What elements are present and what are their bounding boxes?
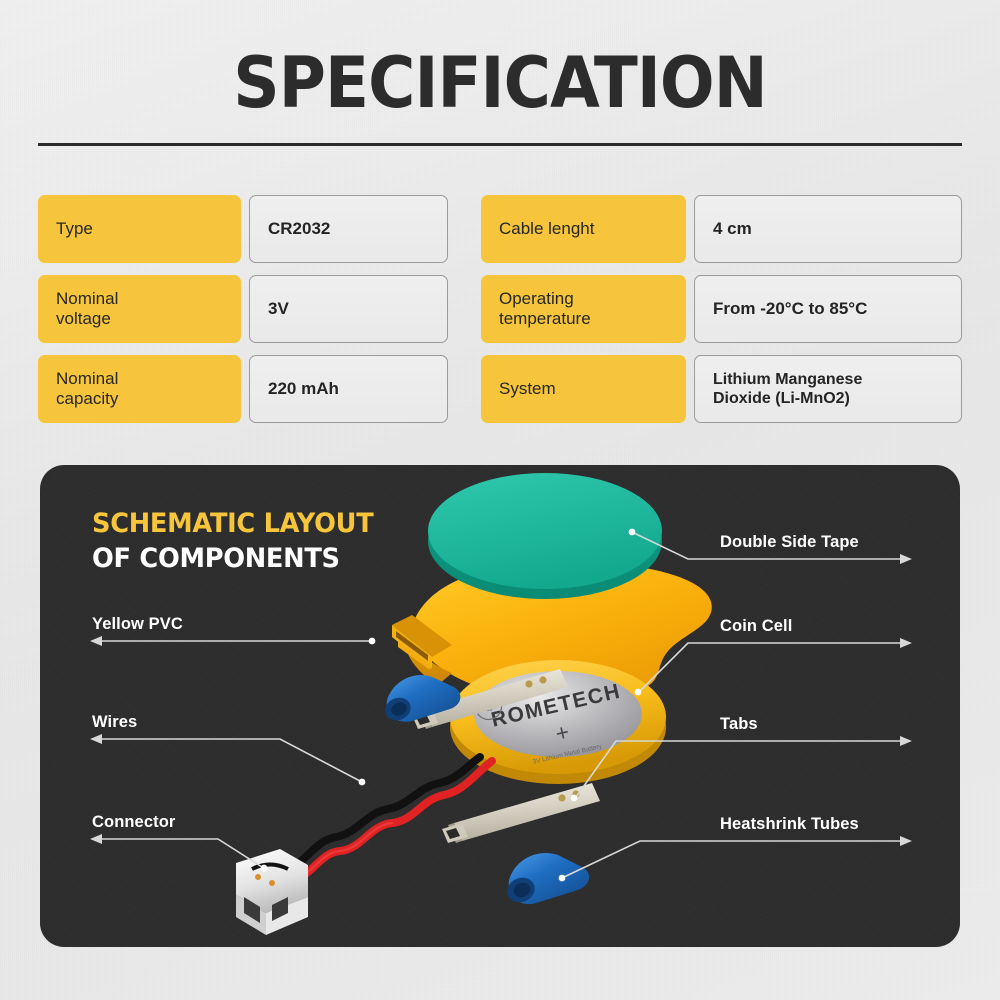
spec-row: Type CR2032 xyxy=(38,195,448,263)
spec-value: 3V xyxy=(249,275,448,343)
spec-value: From -20°C to 85°C xyxy=(694,275,962,343)
callout-label-tabs: Tabs xyxy=(720,715,758,734)
title-divider xyxy=(38,143,962,146)
wires-part xyxy=(286,757,492,879)
schematic-panel: SCHEMATIC LAYOUT OF COMPONENTS xyxy=(40,465,960,947)
heatshrink-tube-lower xyxy=(504,853,590,906)
spec-label: System xyxy=(481,355,686,423)
spec-row: System Lithium Manganese Dioxide (Li-MnO… xyxy=(481,355,962,423)
double-side-tape-part xyxy=(428,473,662,599)
callout-label-yellow-pvc: Yellow PVC xyxy=(92,615,183,634)
spec-row: Cable lenght 4 cm xyxy=(481,195,962,263)
spec-label: Nominal voltage xyxy=(38,275,241,343)
tab-part-lower xyxy=(442,783,600,843)
callout-label-coin-cell: Coin Cell xyxy=(720,617,792,636)
page-title: SPECIFICATION xyxy=(40,48,960,118)
spec-value: Lithium Manganese Dioxide (Li-MnO2) xyxy=(694,355,962,423)
spec-label: Nominal capacity xyxy=(38,355,241,423)
spec-value: CR2032 xyxy=(249,195,448,263)
callout-label-wires: Wires xyxy=(92,713,137,732)
spec-label: Type xyxy=(38,195,241,263)
connector-part xyxy=(236,849,308,935)
specification-infographic: SPECIFICATION Type CR2032 Nominal voltag… xyxy=(0,0,1000,1000)
spec-row: Nominal voltage 3V xyxy=(38,275,448,343)
callout-label-heatshrink-tubes: Heatshrink Tubes xyxy=(720,815,859,834)
spec-row: Nominal capacity 220 mAh xyxy=(38,355,448,423)
spec-label: Operating temperature xyxy=(481,275,686,343)
spec-row: Operating temperature From -20°C to 85°C xyxy=(481,275,962,343)
spec-value: 220 mAh xyxy=(249,355,448,423)
callout-label-double-side-tape: Double Side Tape xyxy=(720,533,859,552)
spec-label: Cable lenght xyxy=(481,195,686,263)
spec-column-right: Cable lenght 4 cm Operating temperature … xyxy=(481,195,962,423)
spec-value: 4 cm xyxy=(694,195,962,263)
callout-label-connector: Connector xyxy=(92,813,175,832)
spec-column-left: Type CR2032 Nominal voltage 3V Nominal c… xyxy=(38,195,448,423)
